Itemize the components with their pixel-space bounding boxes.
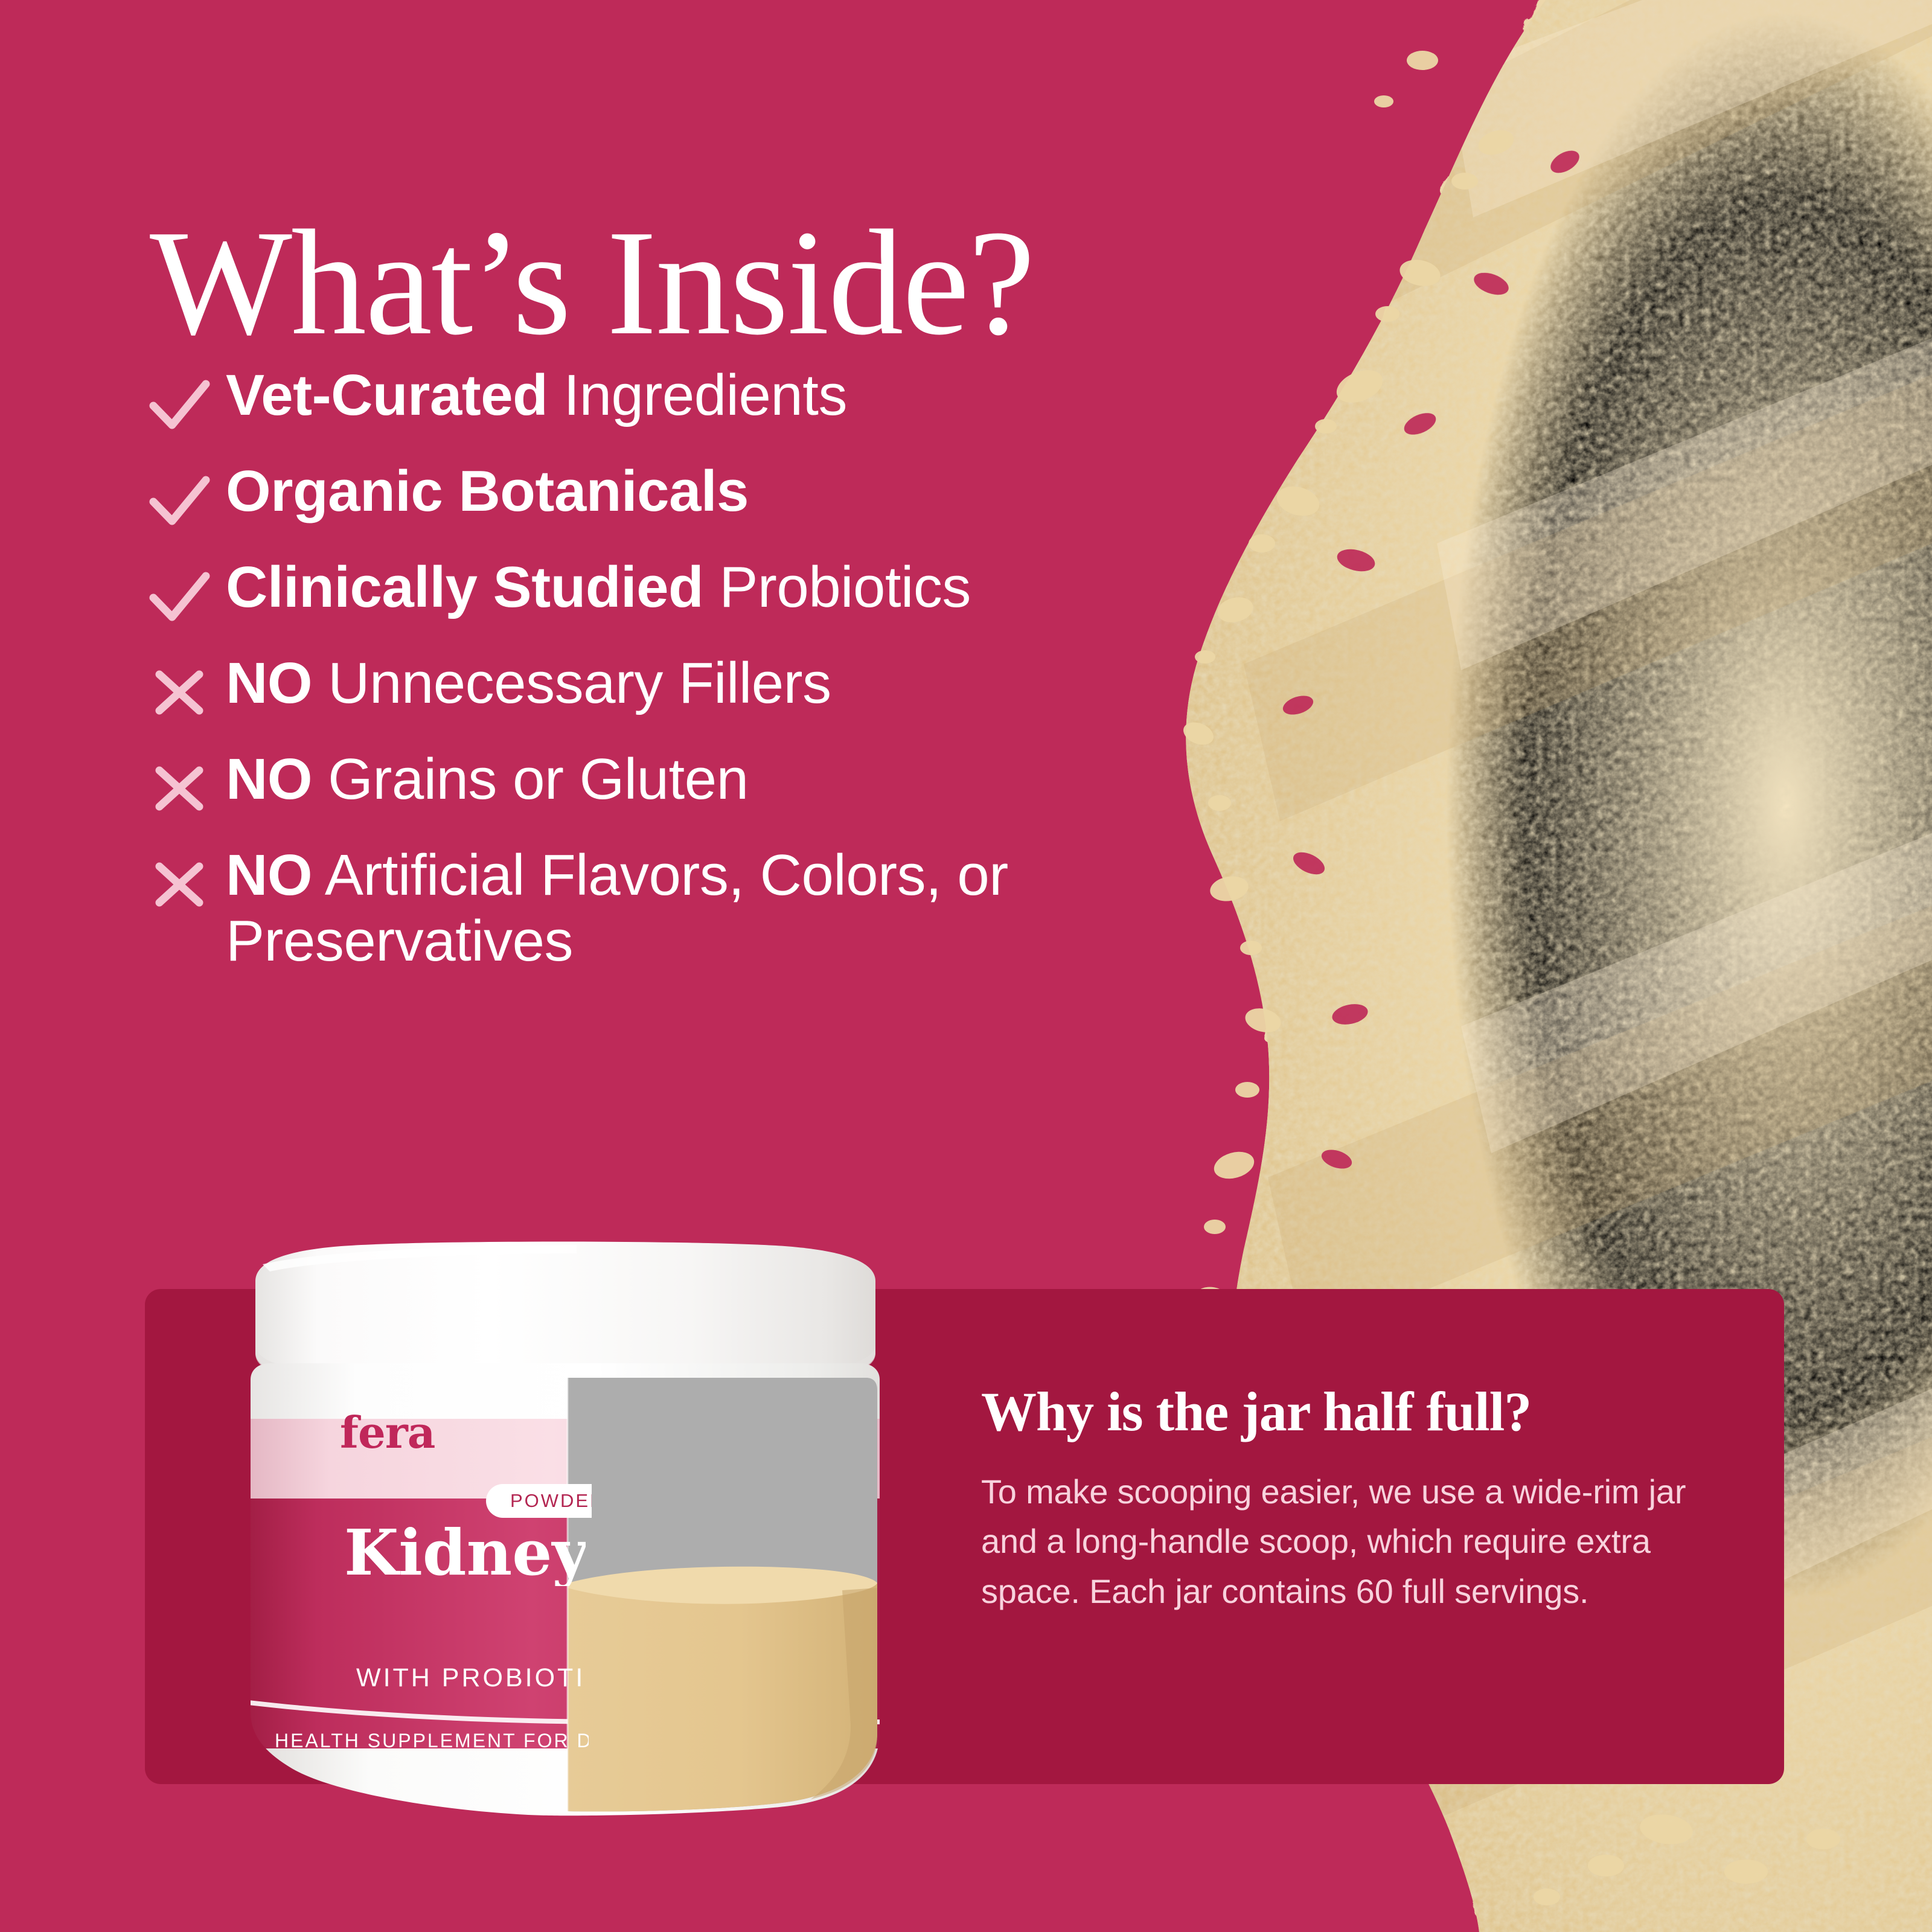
jar-graphic — [238, 1226, 891, 1866]
list-item-rest: Grains or Gluten — [312, 747, 748, 811]
list-item-rest: Artificial Flavors, Colors, or Preservat… — [226, 843, 1008, 973]
list-item-text: Vet-Curated Ingredients — [226, 362, 847, 428]
jar-cutaway — [568, 1378, 877, 1811]
list-item-text: Organic Botanicals — [226, 458, 749, 524]
cross-icon — [144, 659, 215, 726]
info-card-title: Why is the jar half full? — [981, 1383, 1715, 1442]
list-item-emphasis: Vet-Curated — [226, 363, 548, 427]
list-item-text: NO Unnecessary Fillers — [226, 650, 831, 716]
product-marketing-image: What’s Inside? Vet-Curated Ingredients O… — [0, 0, 1932, 1932]
list-item: Clinically Studied Probiotics — [144, 554, 1321, 630]
cross-icon — [144, 851, 215, 918]
list-item: NO Artificial Flavors, Colors, or Preser… — [144, 842, 1321, 974]
list-item-emphasis: NO — [226, 651, 312, 715]
list-item-emphasis: Organic Botanicals — [226, 459, 749, 523]
product-jar — [238, 1226, 891, 1866]
list-item: Vet-Curated Ingredients — [144, 362, 1321, 438]
list-item: NO Unnecessary Fillers — [144, 650, 1321, 726]
page-title: What’s Inside? — [150, 204, 1418, 363]
list-item-rest: Probiotics — [703, 555, 971, 619]
list-item-text: NO Artificial Flavors, Colors, or Preser… — [226, 842, 1321, 974]
list-item-text: Clinically Studied Probiotics — [226, 554, 971, 620]
list-item: NO Grains or Gluten — [144, 746, 1321, 822]
list-item-emphasis: NO — [226, 843, 312, 907]
check-icon — [144, 467, 215, 534]
check-icon — [144, 371, 215, 438]
list-item-emphasis: NO — [226, 747, 312, 811]
cross-icon — [144, 755, 215, 822]
list-item-emphasis: Clinically Studied — [226, 555, 703, 619]
benefits-checklist: Vet-Curated Ingredients Organic Botanica… — [144, 362, 1321, 994]
list-item-text: NO Grains or Gluten — [226, 746, 748, 812]
info-card-body: To make scooping easier, we use a wide-r… — [981, 1467, 1715, 1617]
info-card-content: Why is the jar half full? To make scoopi… — [981, 1383, 1715, 1617]
list-item-rest: Unnecessary Fillers — [312, 651, 831, 715]
list-item-rest: Ingredients — [548, 363, 847, 427]
list-item: Organic Botanicals — [144, 458, 1321, 534]
check-icon — [144, 563, 215, 630]
